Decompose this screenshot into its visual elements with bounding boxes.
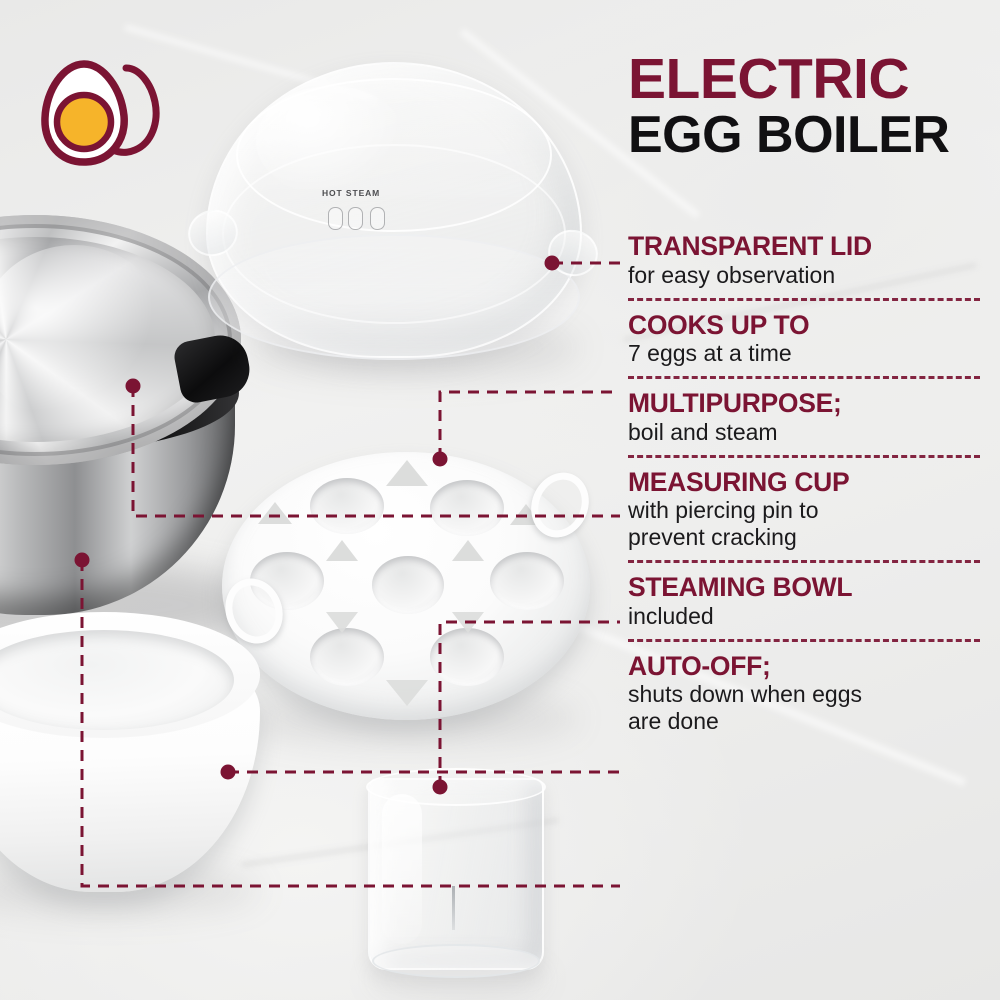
feature-subtext: shuts down when eggsare done (628, 681, 980, 735)
feature-multipurpose: MULTIPURPOSE; boil and steam (628, 389, 980, 446)
feature-heading: STEAMING BOWL (628, 573, 980, 603)
feature-subtext: for easy observation (628, 262, 980, 289)
feature-subtext: boil and steam (628, 419, 980, 446)
feature-divider (628, 560, 980, 563)
connector-cooks-up-to (440, 392, 620, 459)
feature-subtext: 7 eggs at a time (628, 340, 980, 367)
feature-subtext: with piercing pin toprevent cracking (628, 497, 980, 551)
title-line-1: ELECTRIC (628, 52, 980, 107)
feature-divider (628, 455, 980, 458)
feature-divider (628, 376, 980, 379)
page-title: ELECTRIC EGG BOILER (628, 52, 980, 162)
feature-heading: TRANSPARENT LID (628, 232, 980, 262)
callout-dot-auto-off (75, 553, 90, 568)
feature-divider (628, 639, 980, 642)
feature-transparent-lid: TRANSPARENT LID for easy observation (628, 232, 980, 289)
feature-heading: AUTO-OFF; (628, 652, 980, 682)
callout-dot-multipurpose (126, 379, 141, 394)
feature-auto-off: AUTO-OFF; shuts down when eggsare done (628, 652, 980, 735)
callout-dot-measuring-cup (433, 780, 448, 795)
feature-steaming-bowl: STEAMING BOWL included (628, 573, 980, 630)
feature-heading: MEASURING CUP (628, 468, 980, 498)
connector-multipurpose (133, 386, 620, 516)
feature-cooks-up-to: COOKS UP TO 7 eggs at a time (628, 311, 980, 368)
connector-auto-off (82, 560, 620, 886)
connector-measuring-cup (440, 622, 620, 787)
infographic-canvas: HOT STEAM (0, 0, 1000, 1000)
callout-dot-cooks-up-to (433, 452, 448, 467)
callout-dot-transparent-lid (545, 256, 560, 271)
feature-heading: MULTIPURPOSE; (628, 389, 980, 419)
title-line-2: EGG BOILER (628, 109, 980, 162)
feature-subtext: included (628, 603, 980, 630)
feature-divider (628, 298, 980, 301)
feature-measuring-cup: MEASURING CUP with piercing pin topreven… (628, 468, 980, 551)
callout-dot-steaming-bowl (221, 765, 236, 780)
feature-list: TRANSPARENT LID for easy observation COO… (628, 232, 980, 735)
feature-heading: COOKS UP TO (628, 311, 980, 341)
